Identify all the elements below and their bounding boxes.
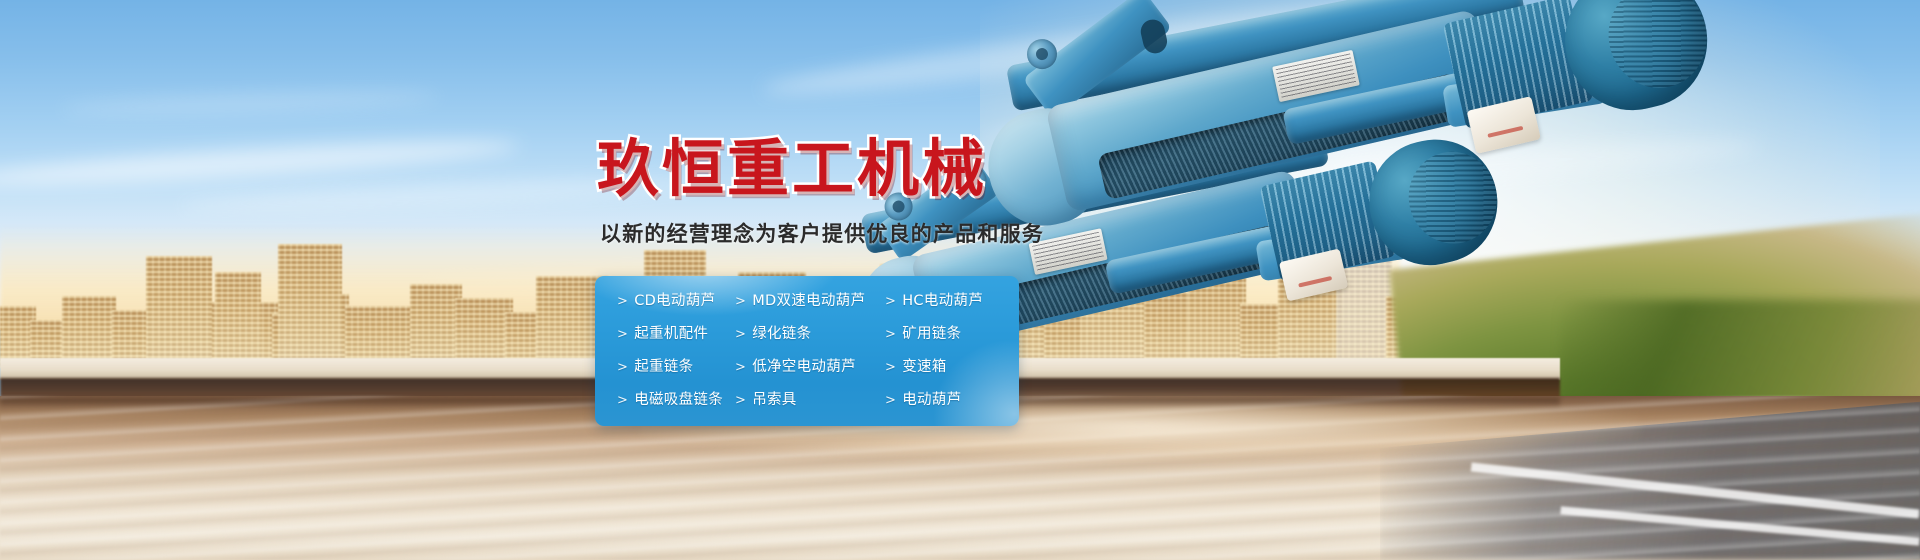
chevron-right-icon: > — [885, 294, 896, 309]
chevron-right-icon: > — [617, 393, 628, 408]
product-link-lifting-chain[interactable]: >起重链条 — [617, 360, 735, 375]
chevron-right-icon: > — [885, 327, 896, 342]
chevron-right-icon: > — [735, 294, 746, 309]
chevron-right-icon: > — [617, 294, 628, 309]
chevron-right-icon: > — [617, 360, 628, 375]
electric-hoist-product-photo — [860, 40, 1920, 460]
product-link-gearbox[interactable]: >变速箱 — [885, 360, 1019, 375]
chevron-right-icon: > — [885, 360, 896, 375]
product-link-label: CD电动葫芦 — [634, 294, 715, 309]
chevron-right-icon: > — [735, 360, 746, 375]
page-title: 玖恒重工机械 — [597, 118, 987, 208]
product-link-label: 绿化链条 — [752, 327, 811, 342]
promo-banner: 玖恒重工机械 以新的经营理念为客户提供优良的产品和服务 >CD电动葫芦>MD双速… — [0, 0, 1920, 560]
product-link-mining-chain[interactable]: >矿用链条 — [885, 327, 1019, 342]
product-link-cd-electric-hoist[interactable]: >CD电动葫芦 — [617, 294, 735, 309]
product-link-crane-parts[interactable]: >起重机配件 — [617, 327, 735, 342]
product-link-md-dual-speed-hoist[interactable]: >MD双速电动葫芦 — [735, 294, 885, 309]
chevron-right-icon: > — [885, 393, 896, 408]
product-link-label: 电动葫芦 — [902, 393, 961, 408]
product-link-electric-hoist[interactable]: >电动葫芦 — [885, 393, 1019, 408]
product-links-grid: >CD电动葫芦>MD双速电动葫芦>HC电动葫芦>起重机配件>绿化链条>矿用链条>… — [595, 276, 1019, 426]
product-link-label: MD双速电动葫芦 — [752, 294, 865, 309]
product-link-label: 电磁吸盘链条 — [634, 393, 723, 408]
product-link-slings-rigging[interactable]: >吊索具 — [735, 393, 885, 408]
product-link-label: 起重链条 — [634, 360, 693, 375]
product-link-label: 起重机配件 — [634, 327, 708, 342]
chevron-right-icon: > — [735, 393, 746, 408]
product-link-label: 变速箱 — [902, 360, 946, 375]
product-link-label: HC电动葫芦 — [902, 294, 983, 309]
chevron-right-icon: > — [617, 327, 628, 342]
product-links-panel: >CD电动葫芦>MD双速电动葫芦>HC电动葫芦>起重机配件>绿化链条>矿用链条>… — [595, 276, 1019, 426]
chevron-right-icon: > — [735, 327, 746, 342]
product-link-label: 矿用链条 — [902, 327, 961, 342]
product-link-label: 吊索具 — [752, 393, 796, 408]
product-link-magnetic-chuck-chain[interactable]: >电磁吸盘链条 — [617, 393, 735, 408]
page-subtitle: 以新的经营理念为客户提供优良的产品和服务 — [600, 218, 1044, 248]
product-link-label: 低净空电动葫芦 — [752, 360, 856, 375]
product-link-low-headroom-hoist[interactable]: >低净空电动葫芦 — [735, 360, 885, 375]
product-link-hc-electric-hoist[interactable]: >HC电动葫芦 — [885, 294, 1019, 309]
product-link-greening-chain[interactable]: >绿化链条 — [735, 327, 885, 342]
